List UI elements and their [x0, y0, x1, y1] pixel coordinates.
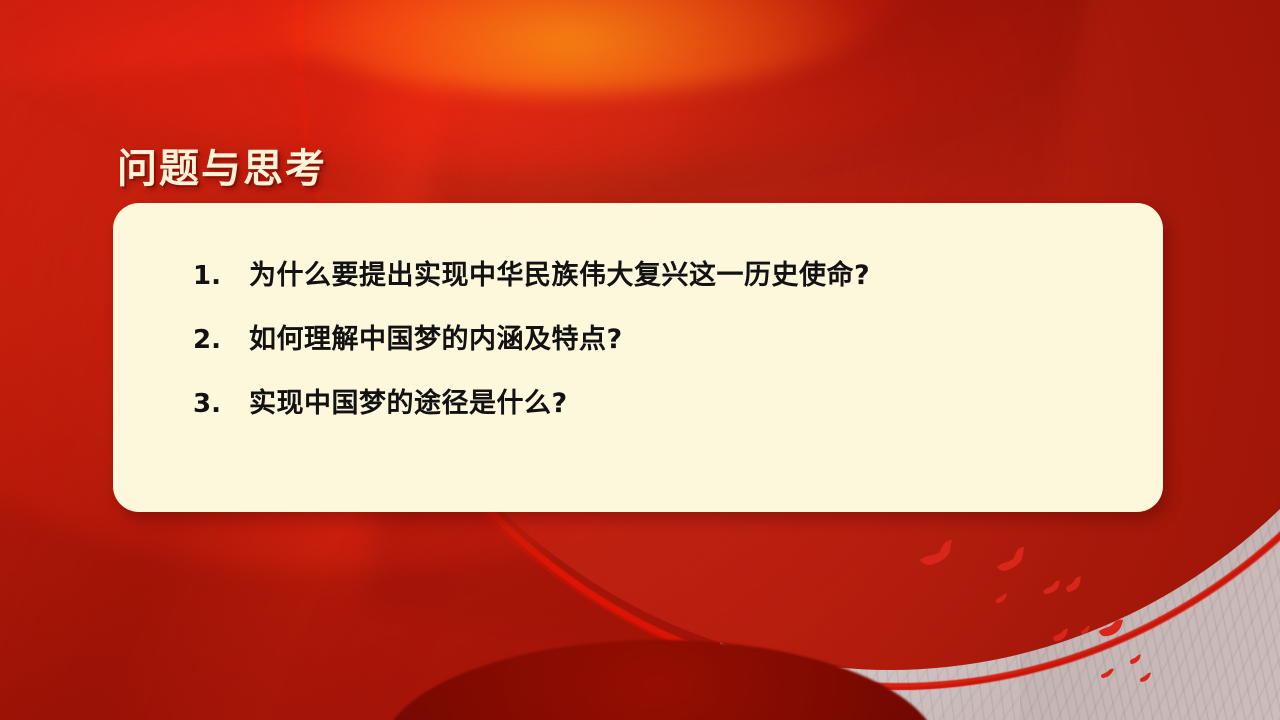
flying-bird-icon: [1129, 654, 1143, 666]
list-item-text: 如何理解中国梦的内涵及特点?: [249, 323, 623, 357]
flying-birds-group: [900, 520, 1280, 720]
list-item-text: 为什么要提出实现中华民族伟大复兴这一历史使命?: [249, 259, 870, 293]
flying-bird-icon: [1080, 625, 1091, 636]
question-list: 1. 为什么要提出实现中华民族伟大复兴这一历史使命? 2. 如何理解中国梦的内涵…: [193, 259, 1123, 420]
flying-bird-icon: [918, 538, 964, 580]
list-item-number: 2.: [193, 324, 249, 357]
list-item-text: 实现中国梦的途径是什么?: [249, 387, 568, 421]
flying-bird-icon: [1098, 618, 1128, 640]
list-item-number: 3.: [193, 388, 249, 421]
flying-bird-icon: [1042, 580, 1064, 598]
list-item: 1. 为什么要提出实现中华民族伟大复兴这一历史使命?: [193, 259, 1123, 293]
flying-bird-icon: [995, 545, 1033, 583]
question-card: 1. 为什么要提出实现中华民族伟大复兴这一历史使命? 2. 如何理解中国梦的内涵…: [113, 203, 1163, 512]
flying-bird-icon: [1065, 576, 1083, 596]
list-item-number: 1.: [193, 260, 249, 293]
flying-bird-icon: [1100, 668, 1116, 679]
flying-bird-icon: [1052, 627, 1070, 645]
page-title: 问题与思考: [117, 136, 327, 194]
flying-bird-icon: [995, 593, 1009, 605]
flying-bird-icon: [1139, 672, 1153, 683]
list-item: 3. 实现中国梦的途径是什么?: [193, 387, 1123, 421]
list-item: 2. 如何理解中国梦的内涵及特点?: [193, 323, 1123, 357]
presentation-slide: 问题与思考 1. 为什么要提出实现中华民族伟大复兴这一历史使命? 2. 如何理解…: [0, 0, 1280, 720]
